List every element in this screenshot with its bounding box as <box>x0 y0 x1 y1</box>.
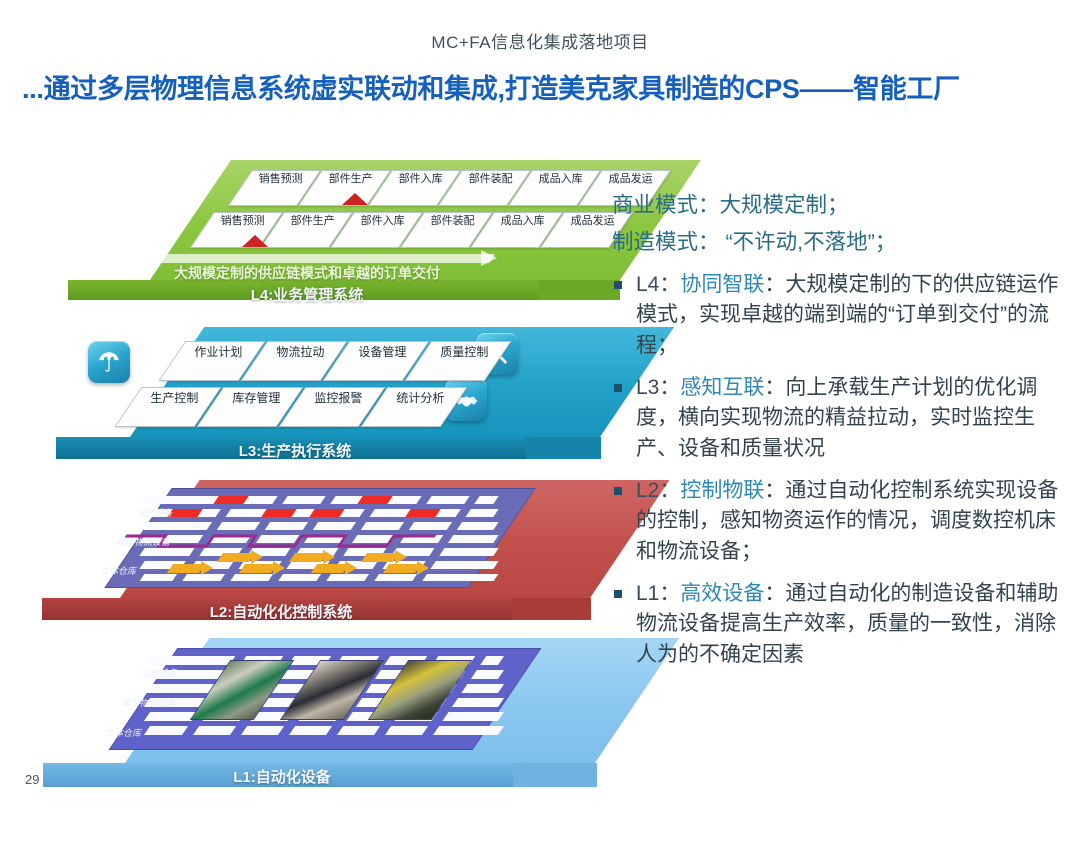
l4-caption: 大规模定制的供应链模式和卓越的订单交付 <box>72 263 542 283</box>
l2-flow-arrow-icon <box>417 561 429 575</box>
l2-flow-arrow-icon <box>201 561 213 575</box>
l2-flow-arrow-icon <box>395 550 407 564</box>
bullet-l1-level: L1： <box>636 582 680 605</box>
l2-row-label: 生产设备 <box>132 506 177 519</box>
l2-row-label: 立体仓库 <box>96 564 141 577</box>
page-number: 29 <box>25 772 39 787</box>
slide-root: MC+FA信息化集成落地项目 ...通过多层物理信息系统虚实联动和集成,打造美克… <box>0 0 1080 810</box>
l2-flow-arrow-icon <box>251 550 263 564</box>
l2-flow-arrow-icon <box>167 564 205 573</box>
l2-flow-arrow-icon <box>289 553 327 562</box>
page-title: ...通过多层物理信息系统虚实联动和集成,打造美克家具制造的CPS——智能工厂 <box>22 72 1062 107</box>
bullet-l4-keyword: 协同智联 <box>680 273 764 296</box>
bullet-l2-keyword: 控制物联 <box>680 479 764 502</box>
bullet-l1-keyword: 高效设备 <box>680 582 764 605</box>
l2-flow-arrow-icon <box>273 561 285 575</box>
bullet-l3: L3：感知互联：向上承载生产计划的优化调度，横向实现物流的精益拉动，实时监控生产… <box>612 373 1072 465</box>
l4-marker-icon <box>342 193 368 205</box>
slide-header: MC+FA信息化集成落地项目 <box>0 28 1080 53</box>
l2-flow-arrow-icon <box>361 553 399 562</box>
bullet-l3-keyword: 感知互联 <box>680 376 764 399</box>
bullet-l2: L2：控制物联：通过自动化控制系统实现设备的控制，感知物资运作的情况，调度数控机… <box>612 476 1072 568</box>
layer-l1-equipment: 生产设备 辅助物流设备 立体仓库 L1:自动化设备 <box>25 638 625 868</box>
manufacturing-mode-line: 制造模式： “不许动,不落地”； <box>612 227 1072 258</box>
l2-flow-arrow-icon <box>217 553 255 562</box>
bullet-l4-level: L4： <box>636 273 680 296</box>
l2-flow-arrow-icon <box>311 564 349 573</box>
umbrella-icon[interactable] <box>88 341 130 383</box>
supply-chain-arrow <box>109 254 495 263</box>
l4-marker-icon <box>242 235 268 247</box>
l2-flow-arrow-icon <box>345 561 357 575</box>
l2-flow-arrow-icon <box>323 550 335 564</box>
l2-flow-arrow-icon <box>239 564 277 573</box>
sidebar-text: 商业模式：大规模定制； 制造模式： “不许动,不落地”； L4：协同智联：大规模… <box>612 190 1072 671</box>
l1-row-label: 辅助物流设备 <box>117 696 180 709</box>
bullet-l1: L1：高效设备：通过自动化的制造设备和辅助物流设备提高生产效率，质量的一致性，消… <box>612 579 1072 671</box>
l2-flow-arrow-icon <box>383 564 421 573</box>
bullet-l3-level: L3： <box>636 376 680 399</box>
l1-row-label: 生产设备 <box>137 666 182 679</box>
business-mode-line: 商业模式：大规模定制； <box>612 190 1072 221</box>
l1-row-label: 立体仓库 <box>101 726 146 739</box>
bullet-l2-level: L2： <box>636 479 680 502</box>
cps-layer-diagram: 销售预测 部件生产 部件入库 部件装配 成品入库 成品发运 销售预测 部件生产 … <box>0 160 620 810</box>
l2-row-label: 辅助物流设备 <box>112 535 175 548</box>
bullet-l4: L4：协同智联：大规模定制的下的供应链运作模式，实现卓越的端到端的“订单到交付”… <box>612 270 1072 362</box>
